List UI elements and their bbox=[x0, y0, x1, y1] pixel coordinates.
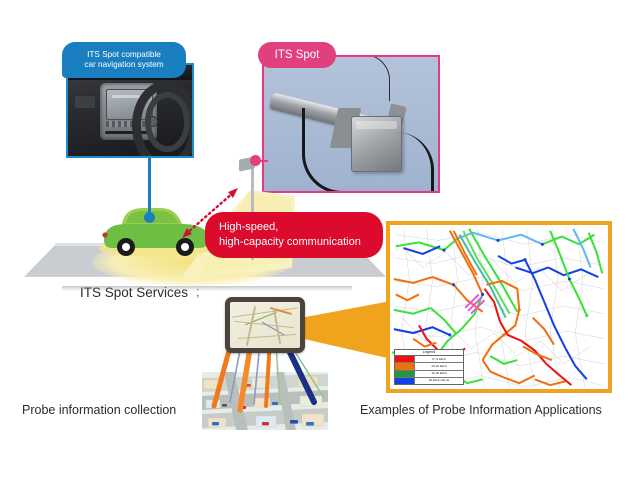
map-legend: Legend 0~ 9 km/h 20-29 km/h 30-39 km/h 4… bbox=[394, 349, 464, 385]
traffic-speed-map: Legend 0~ 9 km/h 20-29 km/h 30-39 km/h 4… bbox=[386, 221, 612, 393]
legend-label-0: 0~ 9 km/h bbox=[415, 356, 463, 362]
support-wire bbox=[344, 55, 390, 101]
high-speed-comm-callout: High-speed, high-capacity communication bbox=[205, 212, 383, 258]
nav-callout-line2: car navigation system bbox=[84, 60, 163, 71]
comm-callout-line1: High-speed, bbox=[219, 221, 278, 233]
legend-swatch-3 bbox=[395, 378, 415, 384]
legend-row: 0~ 9 km/h bbox=[395, 356, 463, 363]
nav-system-callout: ITS Spot compatible car navigation syste… bbox=[62, 42, 186, 78]
tablet-screen bbox=[230, 302, 300, 348]
nav-connector-line bbox=[148, 158, 151, 218]
legend-label-2: 30-39 km/h bbox=[415, 371, 463, 377]
its-spot-photo bbox=[262, 55, 440, 193]
dashboard-interior bbox=[68, 65, 192, 156]
spot-connector-dot bbox=[250, 155, 261, 166]
nav-callout-line1: ITS Spot compatible bbox=[84, 50, 163, 61]
its-spot-callout: ITS Spot bbox=[258, 42, 336, 68]
nav-connector-dot bbox=[144, 212, 155, 223]
legend-swatch-1 bbox=[395, 363, 415, 369]
legend-row: 20-29 km/h bbox=[395, 363, 463, 370]
road-shadow bbox=[62, 286, 352, 291]
diagram-canvas: ITS Spot compatible car navigation syste… bbox=[0, 0, 640, 480]
tail-light bbox=[102, 232, 107, 237]
steering-wheel-inner bbox=[145, 92, 189, 151]
legend-row: 40 km/h and up bbox=[395, 378, 463, 384]
comm-callout-line2: high-capacity communication bbox=[219, 236, 361, 248]
legend-label-1: 20-29 km/h bbox=[415, 363, 463, 369]
legend-row: 30-39 km/h bbox=[395, 371, 463, 378]
legend-swatch-0 bbox=[395, 356, 415, 362]
legend-title: Legend bbox=[395, 350, 463, 357]
roadside-unit-box bbox=[351, 116, 402, 172]
its-spot-callout-label: ITS Spot bbox=[275, 48, 320, 63]
probe-data-tablet bbox=[225, 297, 305, 353]
legend-label-3: 40 km/h and up bbox=[415, 378, 463, 384]
examples-applications-label: Examples of Probe Information Applicatio… bbox=[360, 403, 602, 417]
air-vent-left bbox=[75, 96, 95, 108]
legend-swatch-2 bbox=[395, 371, 415, 377]
probe-collection-label: Probe information collection bbox=[22, 403, 176, 417]
